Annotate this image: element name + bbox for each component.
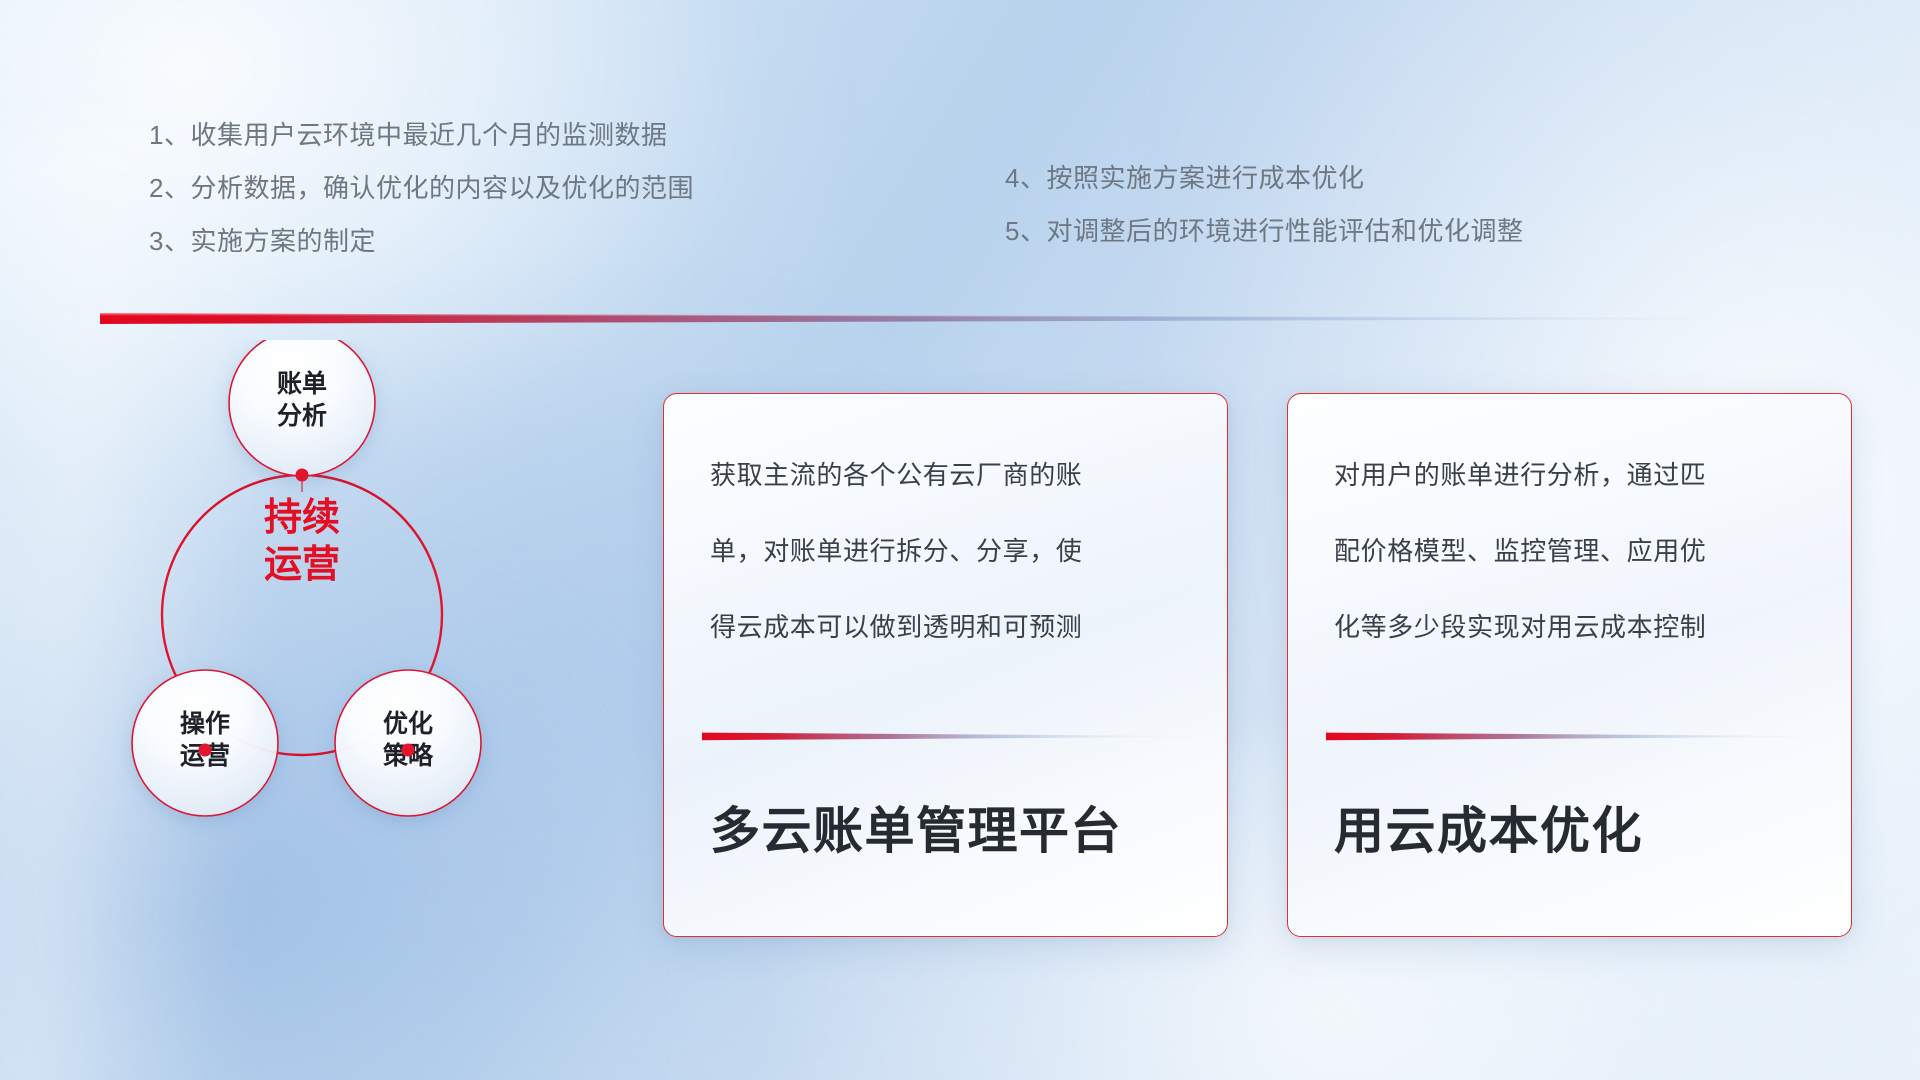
card-body-text: 对用户的账单进行分析，通过匹 配价格模型、监控管理、应用优 化等多少段实现对用云… [1334,462,1813,640]
venn-node-label: 操作 [180,710,230,738]
feature-card-multi-cloud-billing-platform[interactable]: 获取主流的各个公有云厂商的账 单，对账单进行拆分、分享，使 得云成本可以做到透明… [663,393,1228,937]
feature-card-cloud-cost-optimization[interactable]: 对用户的账单进行分析，通过匹 配价格模型、监控管理、应用优 化等多少段实现对用云… [1287,393,1852,937]
card-title: 用云成本优化 [1334,806,1821,856]
card-body-line: 单，对账单进行拆分、分享，使 [710,538,1189,564]
venn-node-label: 优化 [383,710,433,738]
venn-node-bill-analysis: 账单 分析 [229,340,375,476]
venn-dot-right [402,744,415,757]
bullet-list-left: 1、收集用户云环境中最近几个月的监测数据 2、分析数据，确认优化的内容以及优化的… [149,122,694,254]
card-body-line: 配价格模型、监控管理、应用优 [1334,538,1813,564]
card-body-line: 得云成本可以做到透明和可预测 [710,614,1189,640]
section-divider [100,311,1710,327]
venn-node-optimize-strategy: 优化 策略 [335,670,481,816]
slide-canvas: 1、收集用户云环境中最近几个月的监测数据 2、分析数据，确认优化的内容以及优化的… [0,0,1920,1080]
venn-node-ops-operation: 操作 运营 [132,670,278,816]
venn-center-label-line2: 运营 [264,544,340,586]
venn-dot-top [296,469,309,482]
venn-center-label-line1: 持续 [264,497,340,539]
bullet-item: 4、按照实施方案进行成本优化 [1005,165,1523,191]
bullet-item: 5、对调整后的环境进行性能评估和优化调整 [1005,218,1523,244]
card-accent-rule [1326,731,1821,742]
venn-node-label: 分析 [277,402,327,430]
bullet-list-right: 4、按照实施方案进行成本优化 5、对调整后的环境进行性能评估和优化调整 [1005,165,1523,244]
venn-diagram: 账单 分析 操作 运营 优化 策略 持续 运营 [90,340,560,870]
card-body-line: 对用户的账单进行分析，通过匹 [1334,462,1813,488]
bullet-item: 3、实施方案的制定 [149,228,694,254]
venn-node-label: 账单 [277,370,327,398]
bullet-item: 2、分析数据，确认优化的内容以及优化的范围 [149,175,694,201]
card-body-line: 化等多少段实现对用云成本控制 [1334,614,1813,640]
card-title: 多云账单管理平台 [710,806,1197,856]
venn-dot-left [199,744,212,757]
bullet-item: 1、收集用户云环境中最近几个月的监测数据 [149,122,694,148]
card-accent-rule [702,731,1197,742]
card-body-line: 获取主流的各个公有云厂商的账 [710,462,1189,488]
card-body-text: 获取主流的各个公有云厂商的账 单，对账单进行拆分、分享，使 得云成本可以做到透明… [710,462,1189,640]
